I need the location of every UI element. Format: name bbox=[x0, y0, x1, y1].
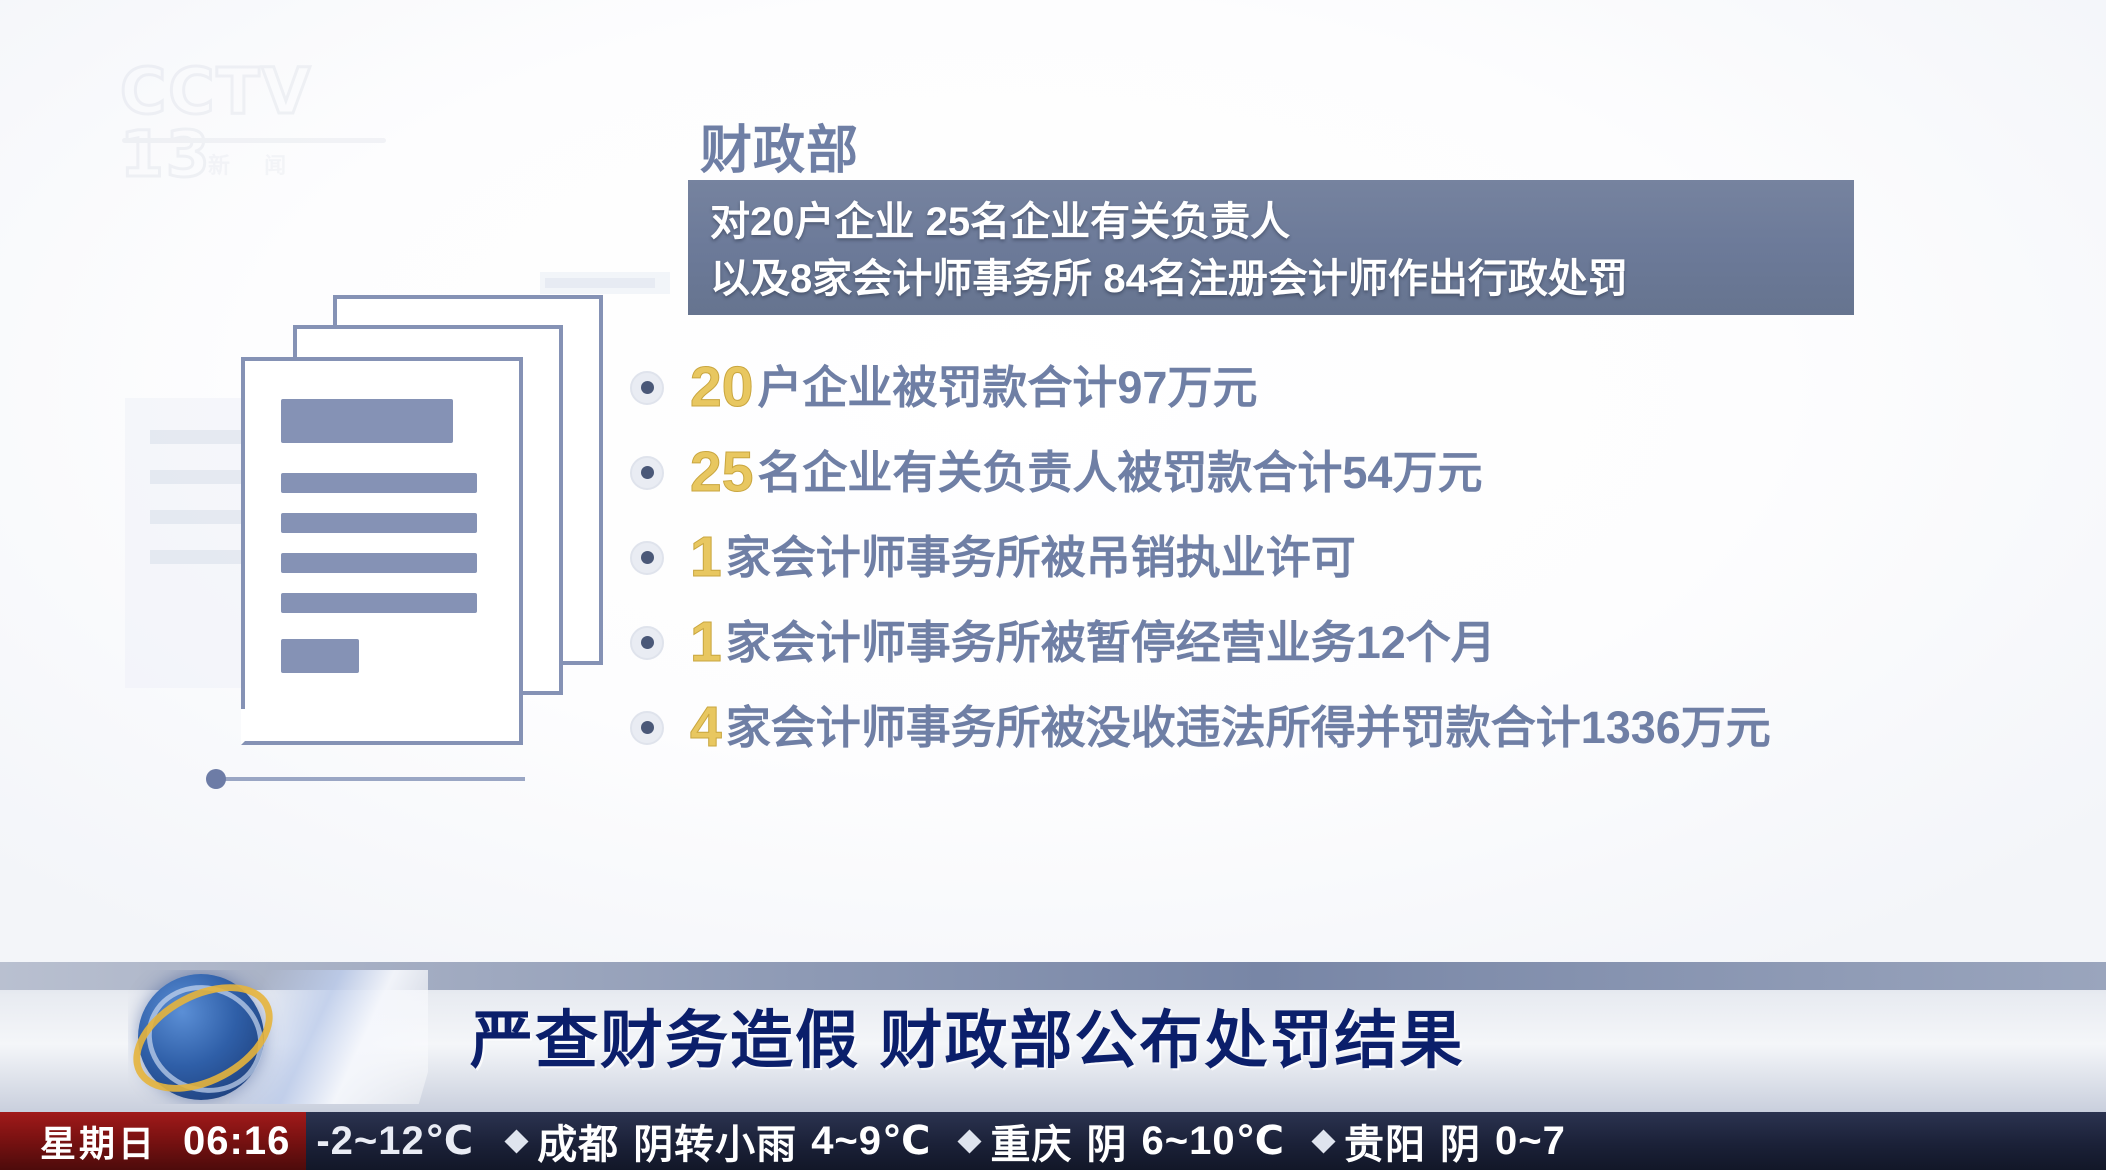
document-text-line-2 bbox=[281, 513, 477, 533]
document-text-line-1 bbox=[281, 473, 477, 493]
document-text-line-4 bbox=[281, 593, 477, 613]
ticker-time: 06:16 bbox=[183, 1119, 290, 1164]
bullet-dot-icon bbox=[630, 371, 664, 405]
illustration-baseline bbox=[215, 777, 525, 781]
ticker-city: 成都 bbox=[537, 1112, 619, 1170]
list-item: 4 家会计师事务所被没收违法所得并罚款合计1336万元 bbox=[630, 685, 2060, 770]
cctv-logo-watermark: CCTV 13 新 闻 bbox=[120, 60, 410, 170]
ticker-condition: 阴转小雨 bbox=[633, 1112, 797, 1170]
diamond-separator-icon bbox=[505, 1129, 529, 1153]
list-item-label: 家会计师事务所被暂停经营业务12个月 bbox=[726, 620, 1496, 665]
broadcast-slide: CCTV 13 新 闻 财政部 对20户企业 25名企业有关负责人 以及8家会计… bbox=[0, 0, 2106, 962]
list-item-number: 1 bbox=[690, 614, 722, 671]
document-text-line-3 bbox=[281, 553, 477, 573]
page-title: 财政部 bbox=[700, 108, 859, 183]
diamond-separator-icon bbox=[1312, 1129, 1336, 1153]
globe-logo-icon bbox=[128, 970, 428, 1104]
list-item-label: 户企业被罚款合计97万元 bbox=[757, 365, 1257, 410]
ticker-condition: 阴 bbox=[1086, 1112, 1127, 1170]
cctv-logo-subtitle: 新 闻 bbox=[208, 148, 300, 180]
illustration-baseline-dot bbox=[206, 769, 226, 789]
news-headline: 严查财务造假 财政部公布处罚结果 bbox=[470, 990, 1465, 1081]
list-item: 25 名企业有关负责人被罚款合计54万元 bbox=[630, 430, 2060, 515]
document-fold-corner bbox=[241, 709, 277, 745]
list-item-number: 1 bbox=[690, 529, 722, 586]
list-item-number: 25 bbox=[690, 444, 753, 501]
bullet-dot-icon bbox=[630, 541, 664, 575]
diamond-separator-icon bbox=[958, 1129, 982, 1153]
decor-line-5 bbox=[545, 278, 655, 288]
bullet-dot-icon bbox=[630, 711, 664, 745]
ticker-temperature: 4~9℃ bbox=[811, 1118, 931, 1164]
document-stamp-block bbox=[281, 639, 359, 673]
ticker-weather-entry: 贵阳 阴 0~7 bbox=[1315, 1112, 1566, 1170]
cctv-logo-underline bbox=[122, 138, 386, 143]
weather-ticker: 星期日 06:16 -2~12℃ 成都 阴转小雨 4~9℃ 重庆 阴 6~10℃… bbox=[0, 1112, 2106, 1170]
ticker-weather-entry: 成都 阴转小雨 4~9℃ bbox=[508, 1112, 931, 1170]
document-block-title bbox=[281, 399, 453, 443]
list-item-label: 家会计师事务所被没收违法所得并罚款合计1336万元 bbox=[726, 705, 1771, 750]
ticker-weather-entry: 重庆 阴 6~10℃ bbox=[961, 1112, 1285, 1170]
ticker-weekday: 星期日 bbox=[40, 1115, 157, 1167]
lower-third: 严查财务造假 财政部公布处罚结果 星期日 06:16 -2~12℃ 成都 阴转小… bbox=[0, 962, 2106, 1170]
ticker-city: 贵阳 bbox=[1344, 1112, 1426, 1170]
list-item-label: 家会计师事务所被吊销执业许可 bbox=[726, 535, 1356, 580]
list-item: 1 家会计师事务所被暂停经营业务12个月 bbox=[630, 600, 2060, 685]
list-item: 1 家会计师事务所被吊销执业许可 bbox=[630, 515, 2060, 600]
ticker-items: -2~12℃ 成都 阴转小雨 4~9℃ 重庆 阴 6~10℃ 贵阳 阴 0~7 bbox=[306, 1112, 2106, 1170]
ticker-temperature: 6~10℃ bbox=[1141, 1118, 1285, 1164]
list-item-number: 4 bbox=[690, 699, 722, 756]
document-sheet-front bbox=[241, 357, 523, 745]
document-stack-illustration bbox=[215, 295, 675, 815]
bullet-dot-icon bbox=[630, 626, 664, 660]
ticker-clock-block: 星期日 06:16 bbox=[0, 1112, 306, 1170]
ticker-condition: 阴 bbox=[1440, 1112, 1481, 1170]
ticker-temperature: 0~7 bbox=[1495, 1119, 1566, 1164]
ticker-city: 重庆 bbox=[990, 1112, 1072, 1170]
bullet-dot-icon bbox=[630, 456, 664, 490]
banner-line-2: 以及8家会计师事务所 84名注册会计师作出行政处罚 bbox=[710, 251, 1832, 308]
list-item: 20 户企业被罚款合计97万元 bbox=[630, 345, 2060, 430]
list-item-label: 名企业有关负责人被罚款合计54万元 bbox=[757, 450, 1482, 495]
list-item-number: 20 bbox=[690, 359, 753, 416]
summary-banner: 对20户企业 25名企业有关负责人 以及8家会计师事务所 84名注册会计师作出行… bbox=[688, 180, 1854, 315]
banner-line-1: 对20户企业 25名企业有关负责人 bbox=[710, 194, 1832, 251]
penalty-bullet-list: 20 户企业被罚款合计97万元 25 名企业有关负责人被罚款合计54万元 1 家… bbox=[630, 345, 2060, 770]
ticker-first-temp: -2~12℃ bbox=[316, 1118, 474, 1164]
